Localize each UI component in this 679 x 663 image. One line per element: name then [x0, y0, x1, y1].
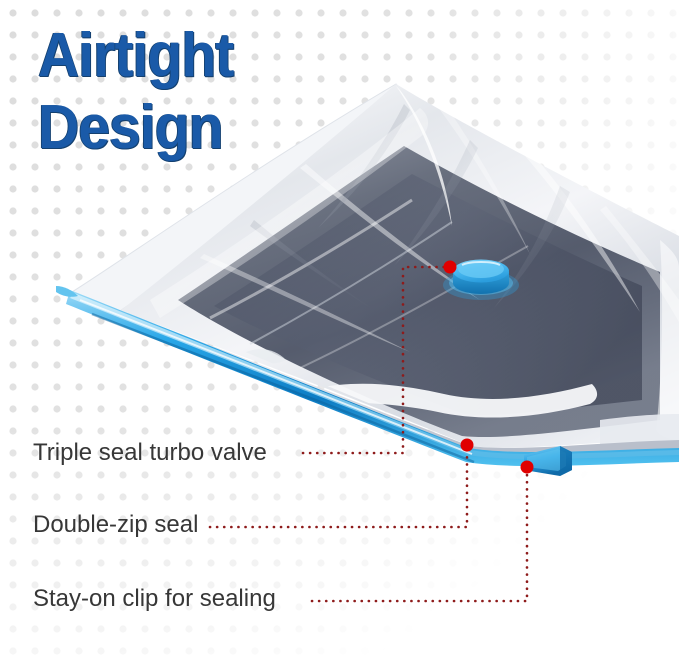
callout-label-valve: Triple seal turbo valve	[33, 441, 267, 465]
callout-label-zip: Double-zip seal	[33, 513, 198, 537]
page-title: Airtight Design	[38, 20, 338, 164]
product-feature-graphic: Airtight Design Triple seal turbo valve …	[0, 0, 679, 663]
title-line-2: Design	[38, 92, 314, 164]
title-line-1: Airtight	[38, 20, 314, 92]
callout-label-clip: Stay-on clip for sealing	[33, 587, 276, 611]
